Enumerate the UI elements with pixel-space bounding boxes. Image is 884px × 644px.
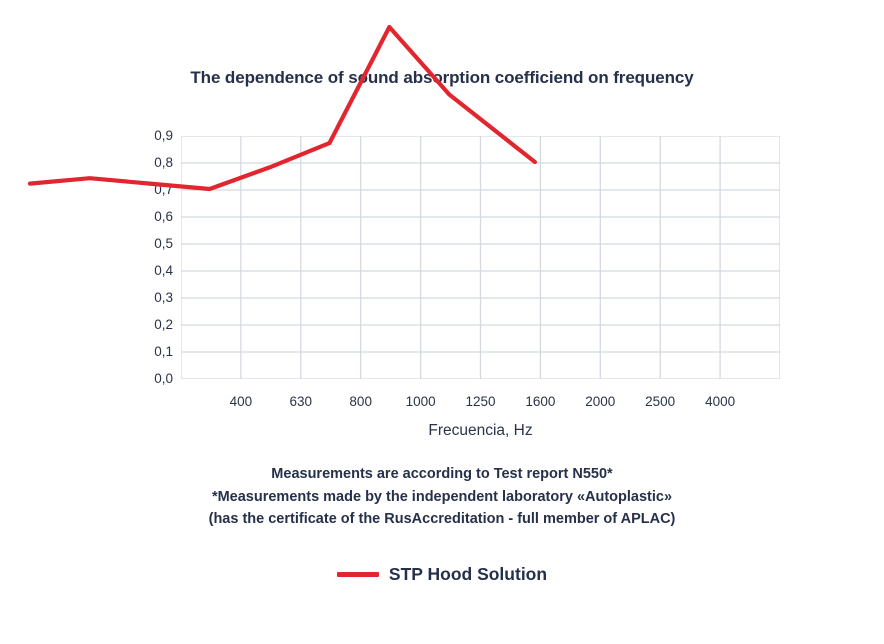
footnote-line: *Measurements made by the independent la…	[0, 486, 884, 509]
footnote-line: Measurements are according to Test repor…	[0, 463, 884, 486]
footnote-line: (has the certificate of the RusAccredita…	[0, 508, 884, 531]
chart-legend: STP Hood Solution	[0, 564, 884, 585]
legend-label: STP Hood Solution	[389, 564, 547, 585]
footnotes-block: Measurements are according to Test repor…	[0, 463, 884, 531]
series-line-stp-hood-solution	[30, 27, 535, 189]
x-axis-title: Frecuencia, Hz	[181, 422, 780, 440]
chart-figure: The dependence of sound absorption coeff…	[0, 0, 884, 644]
legend-color-swatch	[337, 572, 379, 577]
